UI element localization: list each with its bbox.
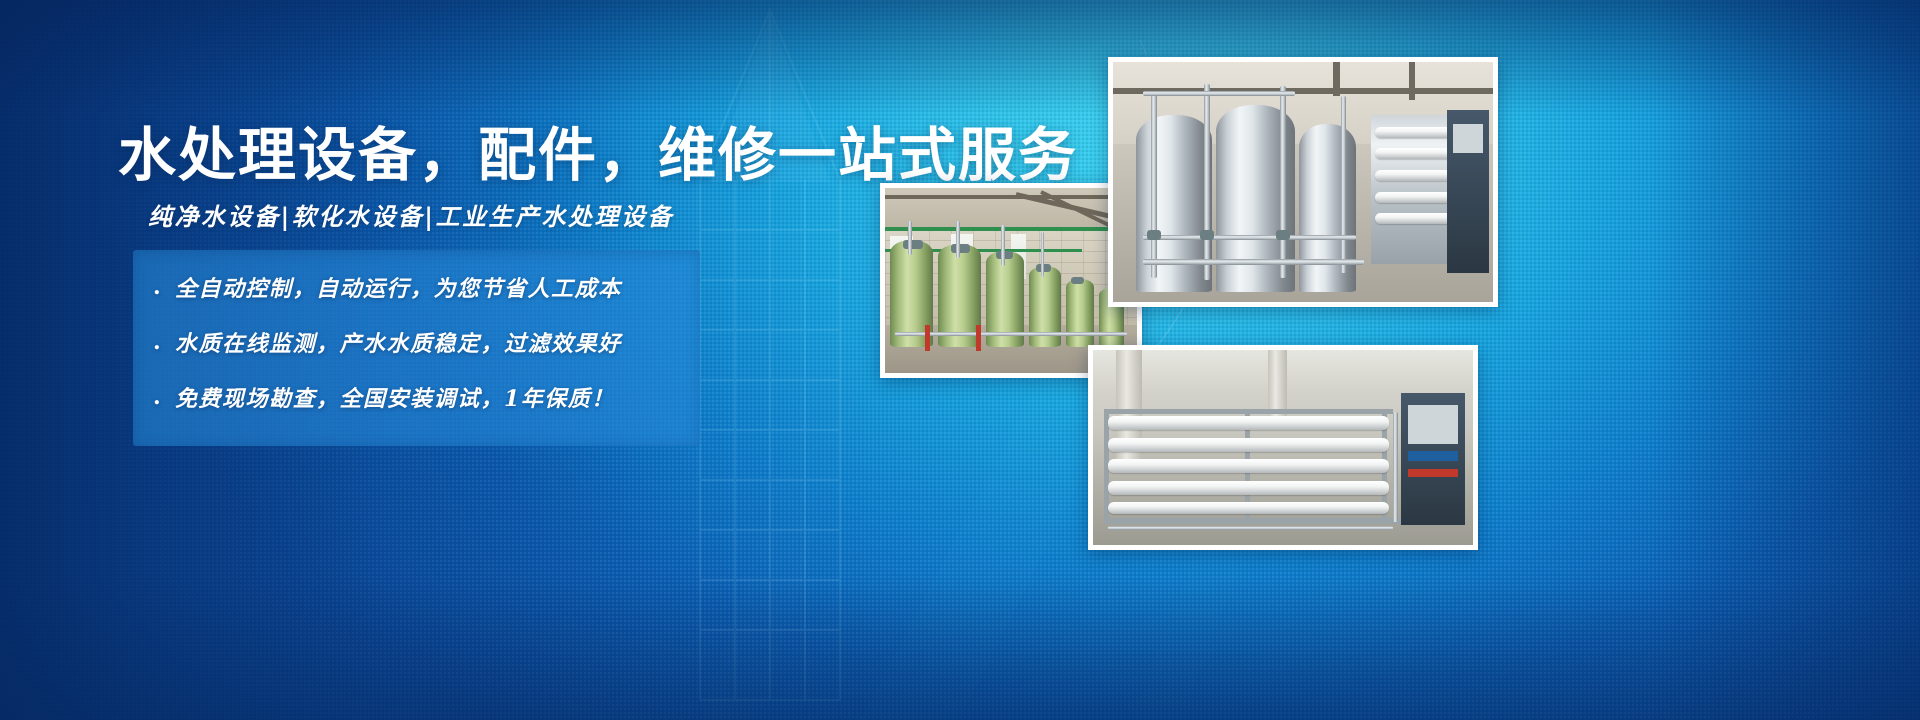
bullet-marker: . bbox=[153, 274, 175, 300]
feature-item: . 水质在线监测，产水水质稳定，过滤效果好 bbox=[153, 326, 622, 358]
photo-stainless-steel-tanks bbox=[1108, 57, 1498, 307]
bullet-marker: . bbox=[153, 329, 175, 355]
photo-ro-membrane-skid bbox=[1088, 345, 1478, 550]
promo-banner: 水处理设备，配件，维修一站式服务 纯净水设备|软化水设备|工业生产水处理设备 .… bbox=[0, 0, 1920, 720]
feature-text: 全自动控制，自动运行，为您节省人工成本 bbox=[175, 271, 622, 303]
feature-item: . 免费现场勘查，全国安装调试，1年保质！ bbox=[153, 381, 615, 413]
banner-title: 水处理设备，配件，维修一站式服务 bbox=[118, 108, 1078, 192]
feature-item: . 全自动控制，自动运行，为您节省人工成本 bbox=[153, 271, 622, 303]
feature-text: 水质在线监测，产水水质稳定，过滤效果好 bbox=[175, 326, 622, 358]
bullet-marker: . bbox=[153, 384, 175, 410]
feature-list-box: . 全自动控制，自动运行，为您节省人工成本 . 水质在线监测，产水水质稳定，过滤… bbox=[133, 250, 700, 446]
feature-text: 免费现场勘查，全国安装调试，1年保质！ bbox=[175, 381, 615, 413]
banner-subtitle: 纯净水设备|软化水设备|工业生产水处理设备 bbox=[148, 197, 674, 232]
